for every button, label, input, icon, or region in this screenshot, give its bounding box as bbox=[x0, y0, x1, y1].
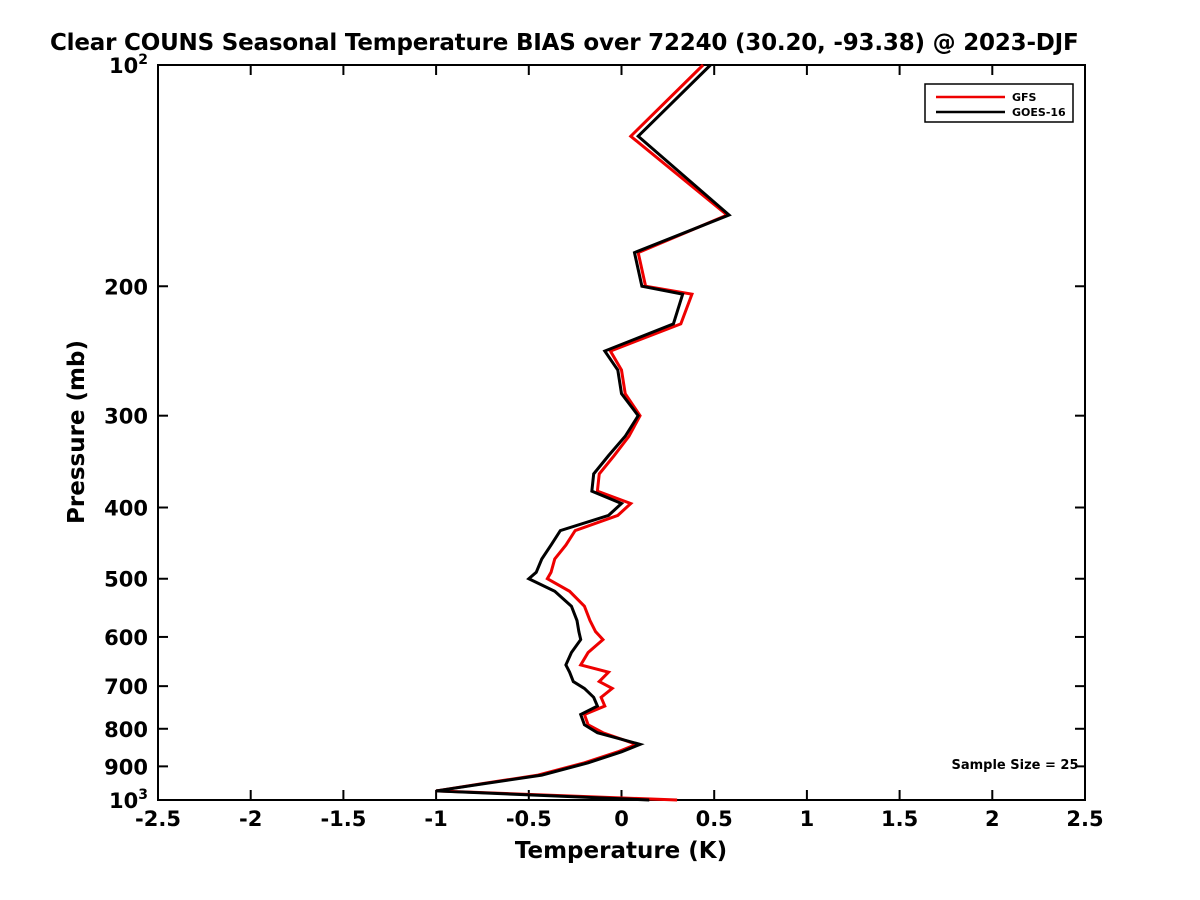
x-tick-label: -2.5 bbox=[135, 807, 181, 831]
x-tick-label: -0.5 bbox=[506, 807, 552, 831]
x-tick-label: 1 bbox=[800, 807, 815, 831]
y-tick-label: 400 bbox=[104, 497, 148, 521]
x-tick-label: 2 bbox=[985, 807, 1000, 831]
y-tick-label: 800 bbox=[104, 718, 148, 742]
x-axis-title: Temperature (K) bbox=[515, 838, 727, 864]
axes-frame bbox=[158, 65, 1085, 800]
legend[interactable]: GFS GOES-16 bbox=[925, 84, 1073, 122]
y-tick-label: 700 bbox=[104, 675, 148, 699]
y-tick-label: 500 bbox=[104, 568, 148, 592]
x-tick-label: -2 bbox=[239, 807, 262, 831]
y-tick-label: 300 bbox=[104, 405, 148, 429]
x-tick-label: 0.5 bbox=[696, 807, 733, 831]
x-tick-label: 2.5 bbox=[1066, 807, 1103, 831]
y-tick-label: 200 bbox=[104, 275, 148, 299]
x-tick-label: -1.5 bbox=[320, 807, 366, 831]
legend-label-goes16: GOES-16 bbox=[1012, 106, 1066, 119]
x-tick-label: -1 bbox=[424, 807, 447, 831]
x-tick-label: 0 bbox=[614, 807, 629, 831]
x-tick-label: 1.5 bbox=[881, 807, 918, 831]
plot-area: -2.5-2-1.5-1-0.500.511.522.5 10220030040… bbox=[0, 0, 1200, 900]
series-line-goes-16 bbox=[436, 65, 729, 800]
y-tick-label: 600 bbox=[104, 626, 148, 650]
y-tick-label: 900 bbox=[104, 755, 148, 779]
y-axis-title: Pressure (mb) bbox=[64, 340, 90, 524]
data-series-group bbox=[436, 65, 729, 800]
legend-label-gfs: GFS bbox=[1012, 91, 1037, 104]
sample-size-annotation: Sample Size = 25 bbox=[951, 758, 1078, 773]
chart-figure: Clear COUNS Seasonal Temperature BIAS ov… bbox=[0, 0, 1200, 900]
y-tick-label: 102 bbox=[109, 52, 148, 78]
